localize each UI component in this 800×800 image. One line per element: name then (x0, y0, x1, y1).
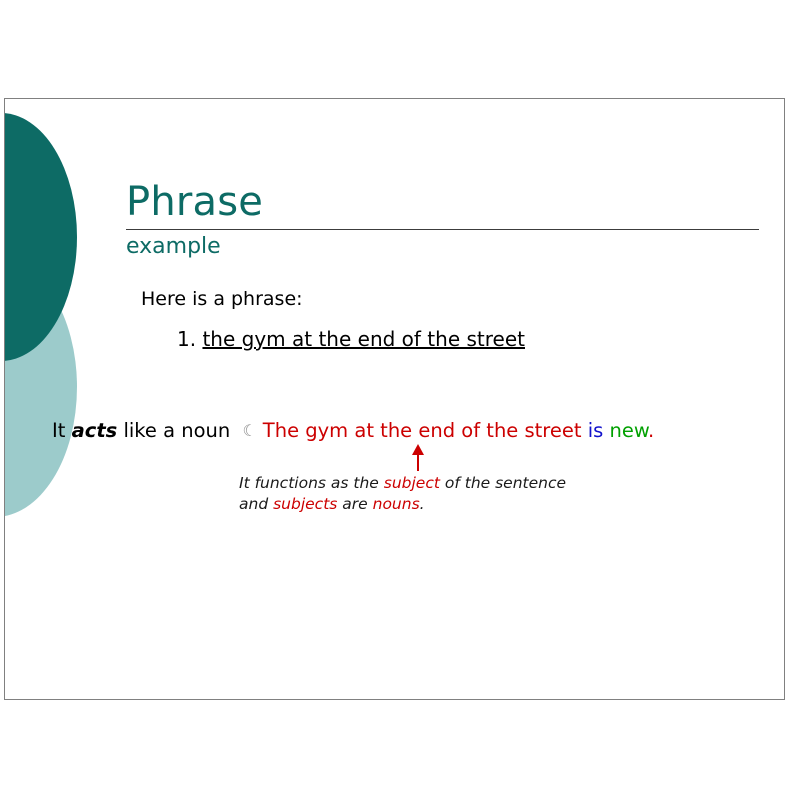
analysis-middle: like a noun (117, 419, 236, 442)
example-adjective-new: new (603, 419, 648, 442)
footnote-keyword-nouns: nouns (373, 495, 420, 513)
analysis-emphasis-acts: acts (72, 419, 118, 442)
up-arrow-icon (409, 444, 427, 472)
numbered-list-item: 1. the gym at the end of the street (177, 327, 525, 351)
example-period: . (648, 419, 654, 442)
analysis-line: It acts like a noun ☾The gym at the end … (52, 419, 654, 442)
list-item-number: 1. (177, 327, 196, 351)
crescent-moon-icon: ☾ (236, 421, 262, 440)
intro-line: Here is a phrase: (141, 288, 303, 310)
footnote-keyword-subject: subject (384, 474, 440, 492)
slide-frame: Phrase example Here is a phrase: 1. the … (4, 98, 785, 700)
footnote-part-4: . (420, 495, 425, 513)
footnote-explanation: It functions as the subject of the sente… (239, 473, 569, 515)
footnote-part-3: are (337, 495, 372, 513)
footnote-part-1: It functions as the (239, 474, 384, 492)
footnote-keyword-subjects: subjects (273, 495, 337, 513)
analysis-prefix: It (52, 419, 72, 442)
example-subject-phrase: The gym at the end of the street (263, 419, 582, 442)
slide-body: Here is a phrase: 1. the gym at the end … (5, 99, 785, 700)
list-item-text: the gym at the end of the street (202, 327, 525, 351)
example-verb-is: is (582, 419, 604, 442)
